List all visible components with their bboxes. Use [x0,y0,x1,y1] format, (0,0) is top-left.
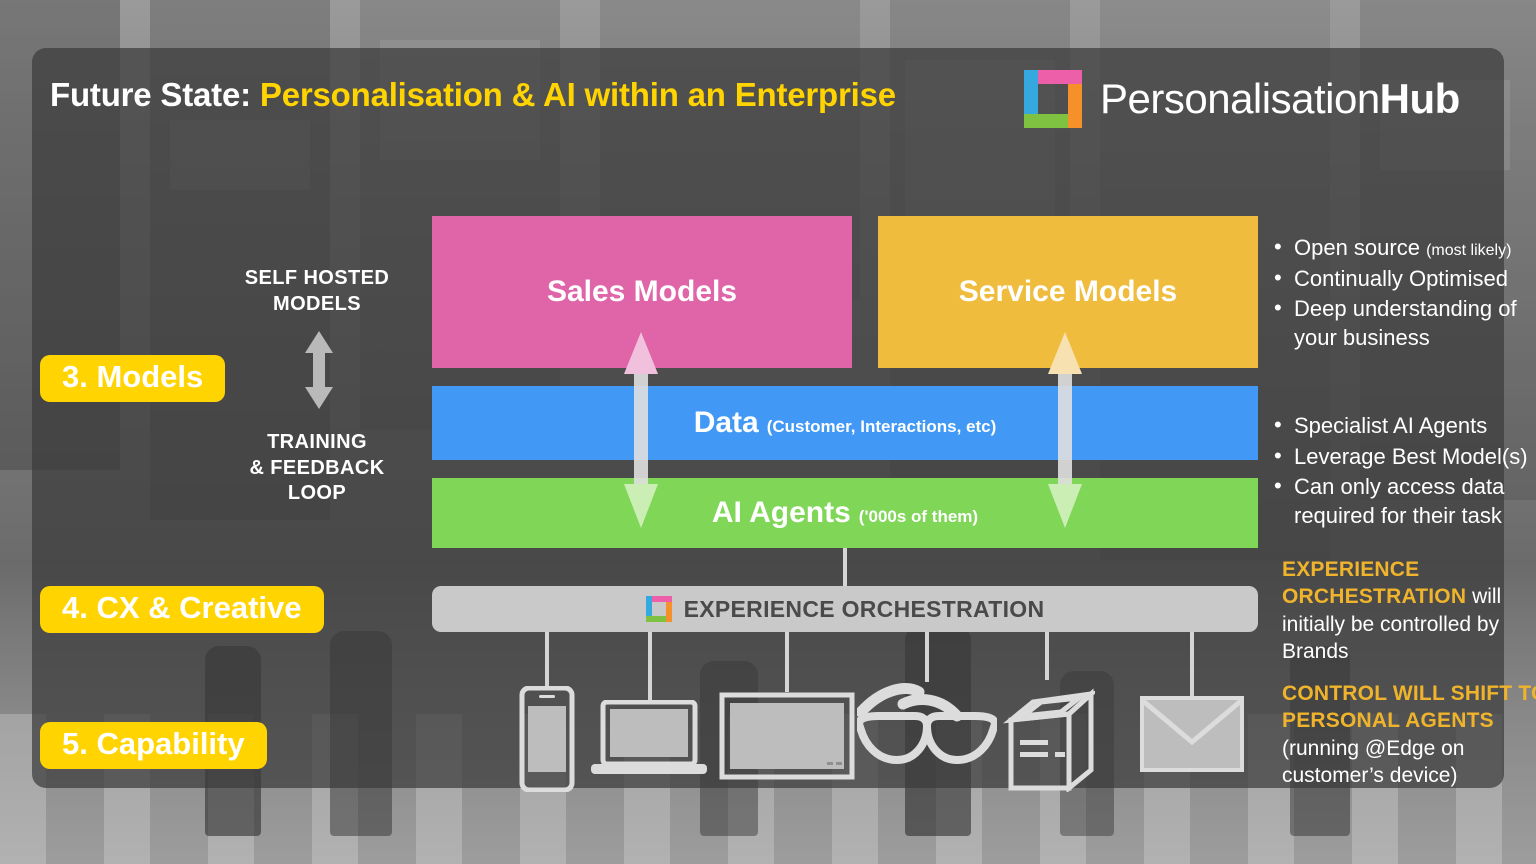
note-control-shift: CONTROL WILL SHIFT TO PERSONAL AGENTS (r… [1282,680,1536,789]
connector-line [925,632,929,682]
logo-center [1038,84,1068,114]
label-training-feedback-loop: TRAINING & FEEDBACK LOOP [202,430,432,507]
list-item: Open source (most likely) [1268,234,1536,263]
logo-bar-green [1024,114,1068,128]
slide-overlay-panel: Future State: Personalisation & AI withi… [32,48,1504,788]
personalisation-hub-square-logo-icon [646,596,672,622]
bullet-text: Open source [1294,235,1426,260]
page-title-highlight: Personalisation & AI within an Enterpris… [260,76,896,113]
bullet-text: Continually Optimised [1294,266,1508,291]
note-body: (running @Edge on customer’s device) [1282,737,1464,787]
connector-line [545,632,549,686]
device-tv-monitor[interactable] [707,632,867,792]
device-kiosk[interactable] [977,632,1117,802]
block-ai-agents[interactable]: AI Agents ('000s of them) [432,478,1258,548]
list-item: Continually Optimised [1268,265,1536,294]
kiosk-icon [1003,680,1095,792]
connector-line [1190,632,1194,696]
bullet-text: Leverage Best Model(s) [1294,444,1528,469]
experience-orchestration-label: EXPERIENCE ORCHESTRATION [684,596,1045,623]
personalisation-hub-square-logo-icon [1024,70,1082,128]
experience-orchestration-bar[interactable]: EXPERIENCE ORCHESTRATION [432,586,1258,632]
connector-line [648,632,652,700]
label-self-hosted-models: SELF HOSTED MODELS [202,266,432,317]
smart-glasses-icon [857,682,997,778]
block-data[interactable]: Data (Customer, Interactions, etc) [432,386,1258,460]
logo-bar-orange [1068,84,1082,128]
brand-name-light: Personalisation [1100,75,1380,122]
block-ai-agents-label: AI Agents [712,496,851,530]
tv-monitor-icon [719,692,855,780]
training-feedback-double-arrow-icon [304,331,334,409]
bullet-text: Deep understanding of your business [1294,296,1517,350]
flow-arrow-sales-icon [624,332,658,528]
logo-bar-orange [666,602,672,622]
connector-line [785,632,789,692]
email-envelope-icon [1140,696,1244,772]
connector-agents-to-orchestration [843,548,847,586]
block-data-sublabel: (Customer, Interactions, etc) [767,417,997,437]
block-service-models-label: Service Models [959,275,1177,309]
block-data-label: Data [694,406,759,440]
bullet-subtext: (most likely) [1426,242,1511,259]
smartphone-icon [517,686,577,792]
list-item: Can only access data required for their … [1268,473,1536,530]
list-item: Leverage Best Model(s) [1268,443,1536,472]
list-item: Specialist AI Agents [1268,412,1536,441]
flow-arrow-service-icon [1048,332,1082,528]
note-experience-orchestration: EXPERIENCE ORCHESTRATION will initially … [1282,556,1536,665]
slide-header: Future State: Personalisation & AI withi… [32,48,1504,158]
logo-bar-pink [1038,70,1082,84]
page-title-plain: Future State: [50,76,260,113]
brand-name-bold: Hub [1380,75,1460,122]
stage-badge-capability[interactable]: 5. Capability [40,722,267,769]
bullet-text: Specialist AI Agents [1294,413,1487,438]
brand-logo: PersonalisationHub [1024,70,1460,128]
block-sales-models-label: Sales Models [547,275,737,309]
brand-logo-text: PersonalisationHub [1100,75,1460,123]
note-heading: CONTROL WILL SHIFT TO PERSONAL AGENTS [1282,682,1536,732]
page-title: Future State: Personalisation & AI withi… [50,76,896,114]
stage-badge-models[interactable]: 3. Models [40,355,225,402]
connector-line [1045,632,1049,680]
device-laptop[interactable] [577,632,722,792]
note-heading: EXPERIENCE ORCHESTRATION [1282,558,1466,608]
bullet-text: Can only access data required for their … [1294,474,1504,528]
block-ai-agents-sublabel: ('000s of them) [859,507,978,527]
notes-models: Open source (most likely) Continually Op… [1268,234,1536,354]
notes-ai-agents: Specialist AI Agents Leverage Best Model… [1268,412,1536,532]
device-email[interactable] [1122,632,1262,792]
list-item: Deep understanding of your business [1268,295,1536,352]
laptop-icon [589,700,709,780]
logo-bar-green [646,616,666,622]
stage-badge-cx-creative[interactable]: 4. CX & Creative [40,586,324,633]
